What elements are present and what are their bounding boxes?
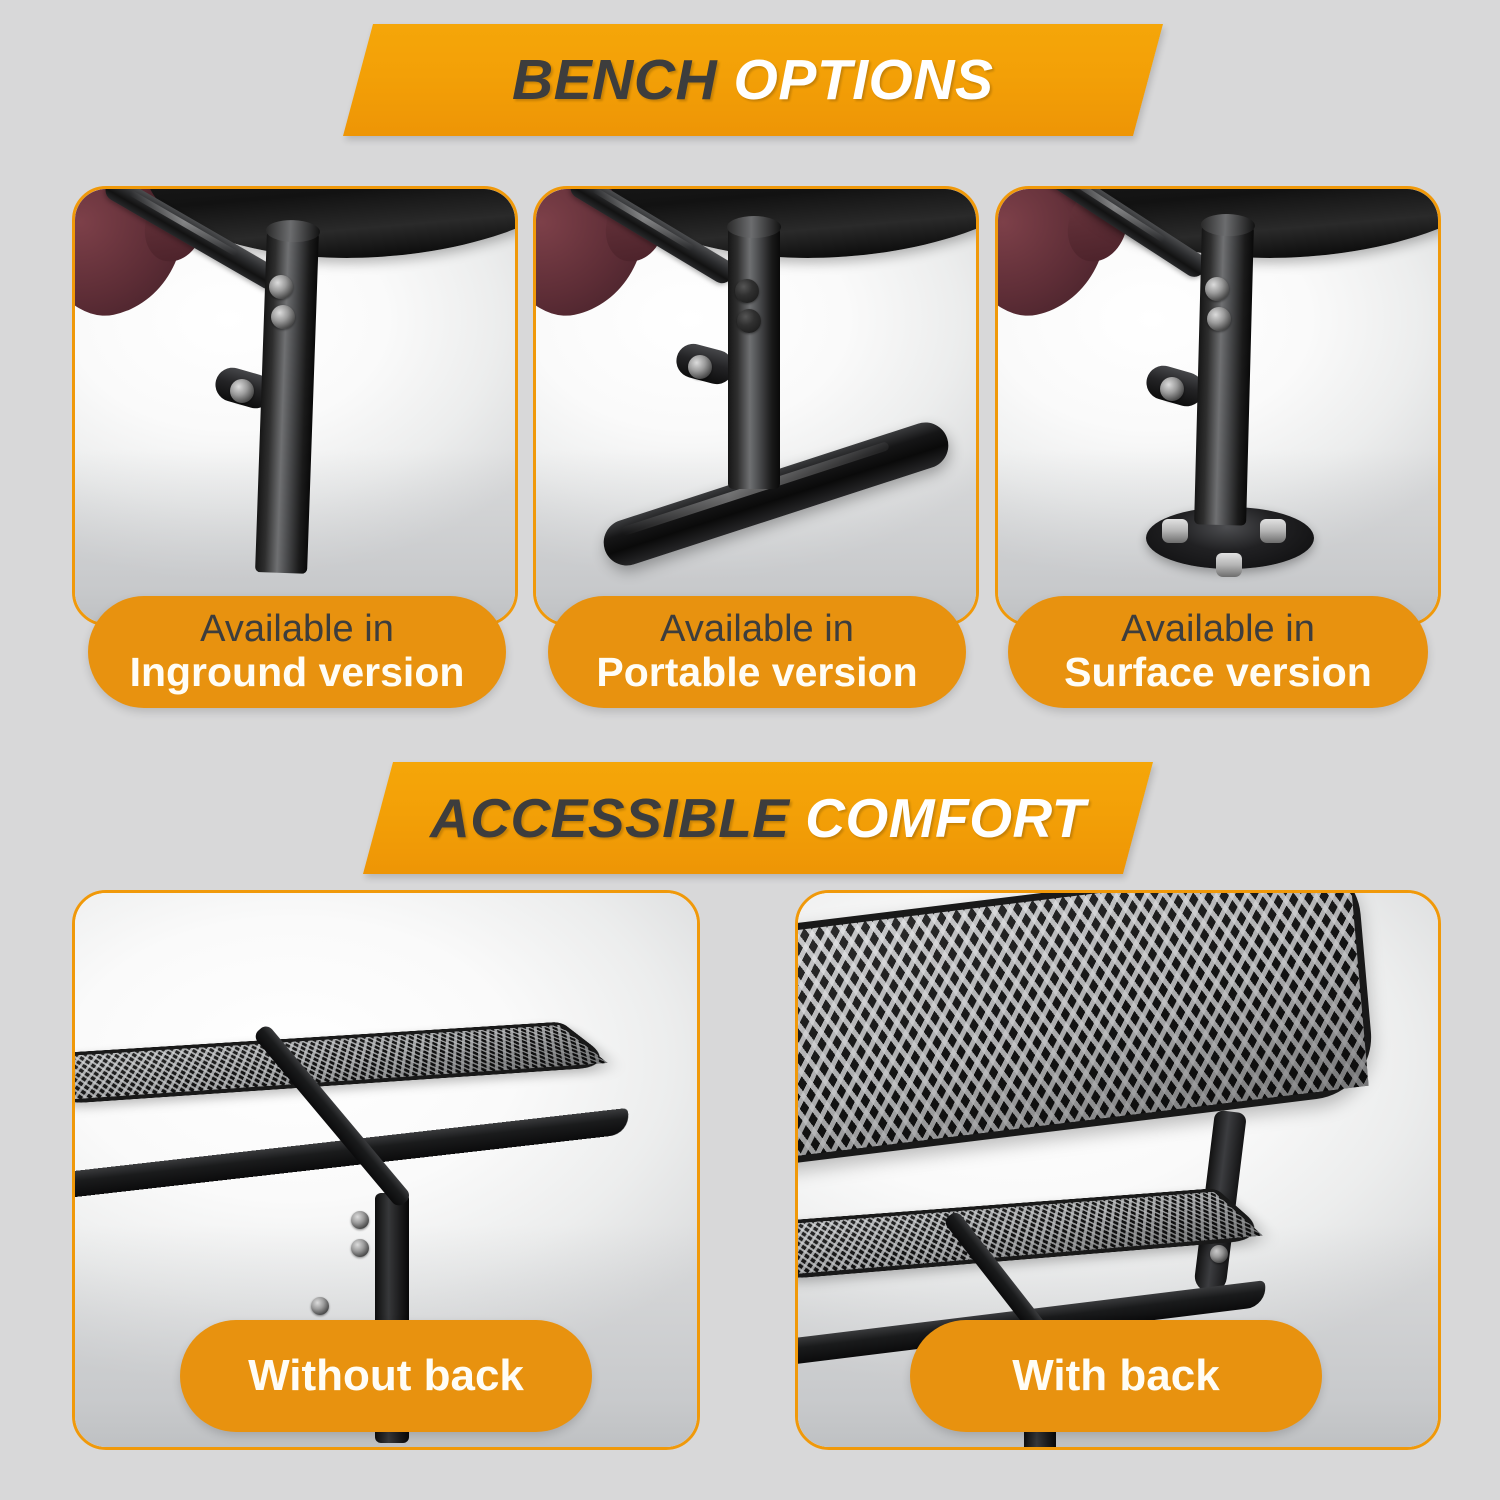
post-bolt-lower — [737, 309, 761, 333]
photo-bench-leg-inground — [75, 189, 515, 623]
brace-pivot-bolt — [311, 1297, 329, 1315]
caption-pill-inground: Available in Inground version — [88, 596, 506, 708]
anchor-bolt-right — [1260, 519, 1286, 543]
brace-pivot-bolt — [1160, 377, 1184, 401]
pill-label-value: Portable version — [596, 650, 917, 696]
pill-label-prefix: Available in — [1121, 608, 1315, 651]
caption-pill-without-back: Without back — [180, 1320, 592, 1432]
pill-label-prefix: Available in — [660, 608, 854, 651]
banner-text: ACCESSIBLE COMFORT — [430, 786, 1086, 850]
brace-pivot-bolt — [688, 355, 712, 379]
leg-bolt-lower — [351, 1239, 369, 1257]
anchor-bolt-front — [1216, 553, 1242, 577]
post-bolt-upper — [1205, 277, 1229, 301]
post-bolt-upper — [735, 279, 759, 303]
pill-label-value: Inground version — [130, 650, 465, 696]
post-bolt-lower — [271, 305, 295, 329]
caption-pill-portable: Available in Portable version — [548, 596, 966, 708]
brace-pivot-bolt — [230, 379, 254, 403]
photo-bench-leg-portable — [536, 189, 976, 623]
caption-pill-surface: Available in Surface version — [1008, 596, 1428, 708]
leg-bolt-upper — [351, 1211, 369, 1229]
card-surface-version — [995, 186, 1441, 626]
banner-text-dark: ACCESSIBLE — [430, 787, 805, 849]
banner-text-light: OPTIONS — [734, 48, 994, 112]
pill-label: With back — [1012, 1351, 1219, 1400]
banner-text-light: COMFORT — [805, 787, 1086, 849]
support-post — [728, 227, 780, 489]
banner-text-dark: BENCH — [512, 48, 734, 112]
section-banner-accessible-comfort: ACCESSIBLE COMFORT — [363, 762, 1153, 874]
pill-label-value: Surface version — [1064, 650, 1372, 696]
card-portable-version — [533, 186, 979, 626]
section-banner-bench-options: BENCH OPTIONS — [343, 24, 1163, 136]
post-bolt-upper — [269, 275, 293, 299]
caption-pill-with-back: With back — [910, 1320, 1322, 1432]
pill-label-prefix: Available in — [200, 608, 394, 651]
banner-text: BENCH OPTIONS — [512, 47, 994, 113]
support-post — [1194, 224, 1254, 525]
anchor-bolt-left — [1162, 519, 1188, 543]
photo-bench-leg-surface — [998, 189, 1438, 623]
pill-label: Without back — [248, 1351, 524, 1400]
card-inground-version — [72, 186, 518, 626]
post-bolt-lower — [1207, 307, 1231, 331]
backrest-bracket-bolt — [1210, 1245, 1228, 1263]
